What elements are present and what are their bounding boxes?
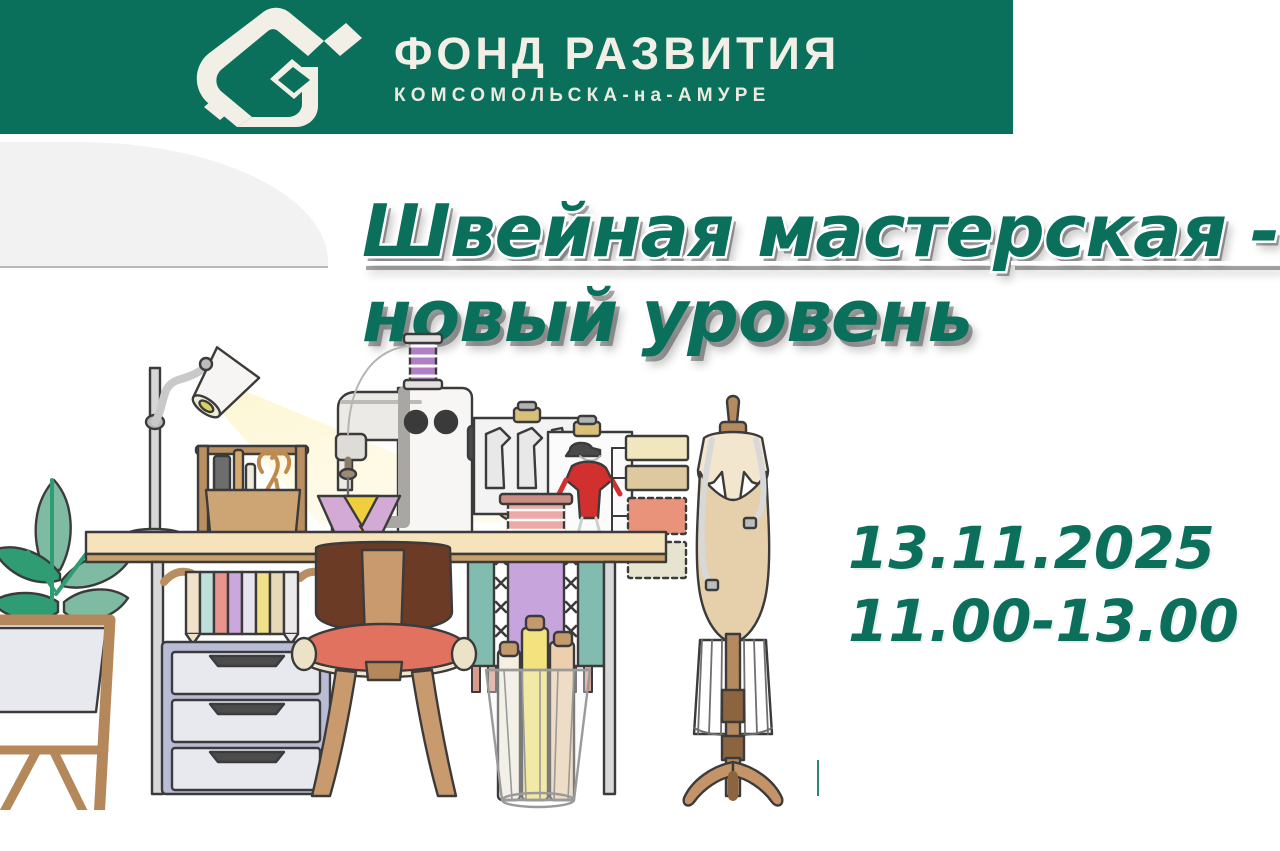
header-bar: ФОНД РАЗВИТИЯ КОМСОМОЛЬСКА-на-АМУРЕ bbox=[0, 0, 1013, 134]
poster-root: ФОНД РАЗВИТИЯ КОМСОМОЛЬСКА-на-АМУРЕ Швей… bbox=[0, 0, 1280, 851]
fabric-roll-basket bbox=[486, 616, 590, 807]
event-datetime: 13.11.2025 11.00-13.00 bbox=[848, 512, 1239, 658]
dress-form-mannequin bbox=[684, 396, 783, 805]
sewing-workshop-illustration bbox=[0, 150, 860, 810]
event-date: 13.11.2025 bbox=[848, 512, 1239, 585]
wooden-chair bbox=[292, 542, 476, 796]
sewing-machine bbox=[318, 334, 480, 554]
event-time: 11.00-13.00 bbox=[848, 585, 1239, 658]
fabric-strips-rack bbox=[164, 572, 334, 644]
organization-city: КОМСОМОЛЬСКА-на-АМУРЕ bbox=[394, 85, 840, 107]
organization-name: ФОНД РАЗВИТИЯ bbox=[394, 31, 840, 77]
potted-plant bbox=[0, 480, 132, 810]
logo-text-group: ФОНД РАЗВИТИЯ КОМСОМОЛЬСКА-на-АМУРЕ bbox=[394, 31, 840, 108]
fond-razvitiya-logo-icon bbox=[196, 7, 368, 127]
